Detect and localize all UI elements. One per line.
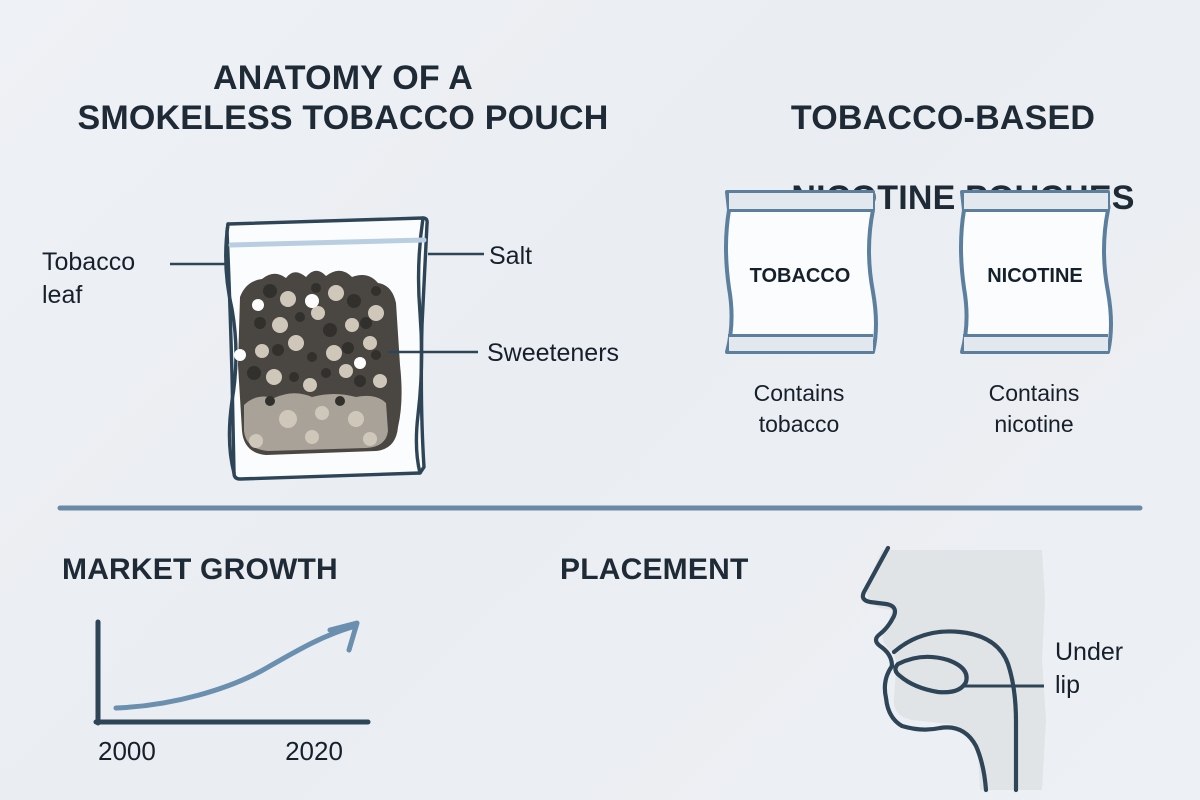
pouch-packet-nicotine: NICOTINE xyxy=(950,184,1120,364)
chart-xtick-2000: 2000 xyxy=(98,736,156,766)
section-title-placement: PLACEMENT xyxy=(560,553,748,587)
market-growth-chart: 2000 2020 xyxy=(60,608,420,778)
caption-contains-tobacco: Contains tobacco xyxy=(699,378,899,440)
packet-top-band-tobacco xyxy=(729,193,873,209)
chart-xtick-2020: 2020 xyxy=(285,736,343,766)
label-salt: Salt xyxy=(489,240,532,273)
packet-bottom-band-nicotine xyxy=(964,337,1108,351)
chart-growth-curve xyxy=(116,627,352,708)
pouch-packet-tobacco: TOBACCO xyxy=(715,184,885,364)
label-under-lip: Under lip xyxy=(1055,636,1175,702)
packet-bottom-band-tobacco xyxy=(729,337,873,351)
label-tobacco-leaf: Tobacco leaf xyxy=(42,246,192,312)
packet-label-nicotine: NICOTINE xyxy=(987,265,1083,287)
comparison-title-line1: TOBACCO-BASED xyxy=(686,98,1200,138)
label-sweeteners: Sweeteners xyxy=(487,337,619,370)
section-title-market-growth: MARKET GROWTH xyxy=(62,553,338,587)
packet-label-tobacco: TOBACCO xyxy=(750,265,851,287)
packet-top-band-nicotine xyxy=(964,193,1108,209)
caption-contains-nicotine: Contains nicotine xyxy=(934,378,1134,440)
section-divider xyxy=(0,498,1200,518)
head-fill xyxy=(866,550,1046,790)
infographic-canvas: ANATOMY OF A SMOKELESS TOBACCO POUCH TOB… xyxy=(0,0,1200,800)
